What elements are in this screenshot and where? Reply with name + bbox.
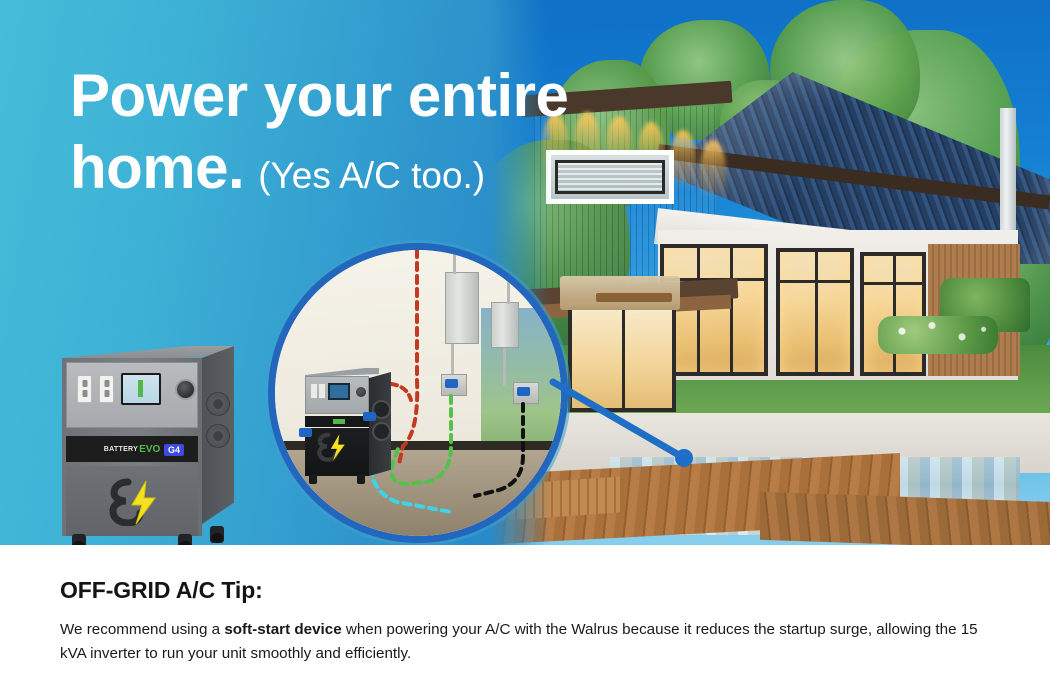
battery-evo-bolt-logo-icon [106, 478, 162, 526]
unit-lower-shell [305, 428, 369, 476]
control-panel [305, 376, 369, 414]
circle-photo-clip [275, 250, 561, 536]
generation-badge: G4 [164, 444, 184, 456]
wood-deck [760, 492, 1050, 545]
ac-outlet-icon [99, 375, 114, 403]
tip-section: OFF-GRID A/C Tip: We recommend using a s… [0, 545, 1050, 700]
ac-outlet-icon [77, 375, 92, 403]
installation-photo-circle [268, 243, 568, 543]
brand-logo-bar [305, 416, 369, 427]
power-connector-icon [356, 387, 366, 397]
blue-plug-icon [299, 428, 312, 437]
caster-wheel [210, 526, 224, 543]
brand-primary-text: BATTERY [104, 446, 138, 453]
lcd-display [328, 383, 350, 400]
tip-title: OFF-GRID A/C Tip: [60, 577, 263, 604]
tip-body-part-1: We recommend using a [60, 621, 224, 638]
entry-glass-door [568, 306, 676, 412]
installed-battery-unit [301, 368, 393, 484]
walrus-battery-unit: BATTERY EVO G4 [52, 340, 252, 545]
control-panel [66, 362, 198, 428]
marketing-banner: Power your entire home.(Yes A/C too.) [0, 0, 1050, 700]
blue-plug-icon [363, 412, 376, 421]
window-bay [860, 252, 926, 376]
caster-wheel [178, 534, 192, 545]
ac-outlet-icon [319, 384, 325, 398]
headline-line-2: home.(Yes A/C too.) [70, 138, 568, 198]
unit-lower-shell [66, 466, 198, 536]
vent-fan-icon [206, 424, 230, 448]
battery-evo-bolt-logo-icon [315, 432, 349, 462]
hero-panel: Power your entire home.(Yes A/C too.) [0, 0, 1050, 545]
power-connector-icon [175, 379, 196, 400]
lcd-display [121, 373, 161, 405]
house-structure [508, 48, 1038, 428]
headline-subnote: (Yes A/C too.) [258, 155, 485, 196]
caster-wheel [357, 474, 365, 484]
headline-emphasis: home. [70, 134, 244, 201]
patio-table [596, 293, 672, 302]
tip-body-bold: soft-start device [224, 621, 341, 638]
brand-secondary-text: EVO [139, 444, 160, 455]
caster-wheel [309, 474, 317, 484]
caster-wheel [72, 534, 86, 545]
unit-side [202, 346, 234, 524]
headline-line-1: Power your entire [70, 66, 568, 126]
unit-side [369, 372, 391, 476]
tip-body: We recommend using a soft-start device w… [60, 618, 995, 665]
vent-fan-icon [372, 422, 391, 441]
house-photo [490, 0, 1050, 545]
window-bay [776, 248, 854, 376]
page-title: Power your entire home.(Yes A/C too.) [70, 66, 568, 198]
vent-fan-icon [206, 392, 230, 416]
ac-outlet-icon [311, 384, 317, 398]
flower-bed [878, 316, 998, 354]
